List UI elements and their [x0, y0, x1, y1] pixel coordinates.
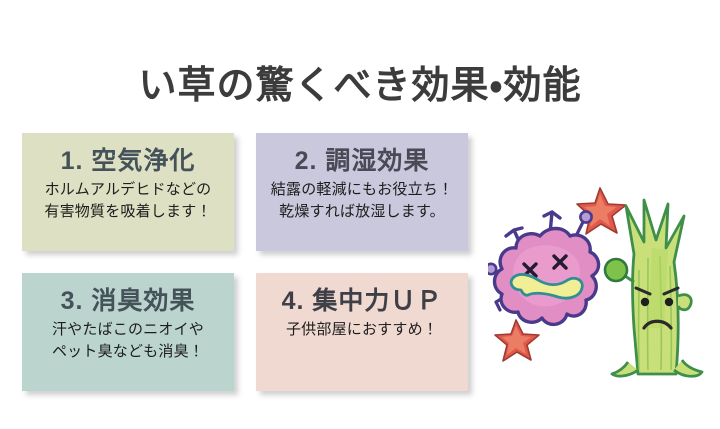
infographic-page: い草の驚くべき効果・効能 1. 空気浄化 ホルムアルデヒドなどの 有害物質を吸着…: [0, 0, 720, 429]
card-body-line: 結露の軽減にもお役立ち！: [264, 179, 460, 201]
card-body-line: 乾燥すれば放湿します。: [264, 201, 460, 223]
benefit-card-concentration-up: 4. 集中力ＵＰ 子供部屋におすすめ！: [256, 273, 468, 391]
benefit-card-air-purification: 1. 空気浄化 ホルムアルデヒドなどの 有害物質を吸着します！: [22, 133, 234, 251]
card-body-line: 有害物質を吸着します！: [30, 201, 226, 223]
card-body-line: ホルムアルデヒドなどの: [30, 179, 226, 201]
illustration: [488, 178, 716, 383]
benefit-card-grid: 1. 空気浄化 ホルムアルデヒドなどの 有害物質を吸着します！ 2. 調湿効果 …: [22, 133, 474, 391]
card-body: ホルムアルデヒドなどの 有害物質を吸着します！: [22, 179, 234, 223]
card-body-line: 汗やたばこのニオイや: [30, 319, 226, 341]
card-heading: 2. 調湿効果: [256, 133, 468, 179]
card-heading: 4. 集中力ＵＰ: [256, 273, 468, 319]
germ-character: [488, 211, 599, 324]
benefit-card-deodorizing: 3. 消臭効果 汗やたばこのニオイや ペット臭なども消臭！: [22, 273, 234, 391]
card-body: 子供部屋におすすめ！: [256, 319, 468, 341]
card-heading: 1. 空気浄化: [22, 133, 234, 179]
card-body: 結露の軽減にもお役立ち！ 乾燥すれば放湿します。: [256, 179, 468, 223]
card-body-line: ペット臭なども消臭！: [30, 341, 226, 363]
card-body-line: 子供部屋におすすめ！: [264, 319, 460, 341]
igusa-character: [605, 200, 702, 376]
card-body: 汗やたばこのニオイや ペット臭なども消臭！: [22, 319, 234, 363]
impact-star: [495, 320, 539, 361]
page-title: い草の驚くべき効果・効能: [0, 63, 720, 109]
benefit-card-humidity-control: 2. 調湿効果 結露の軽減にもお役立ち！ 乾燥すれば放湿します。: [256, 133, 468, 251]
card-heading: 3. 消臭効果: [22, 273, 234, 319]
